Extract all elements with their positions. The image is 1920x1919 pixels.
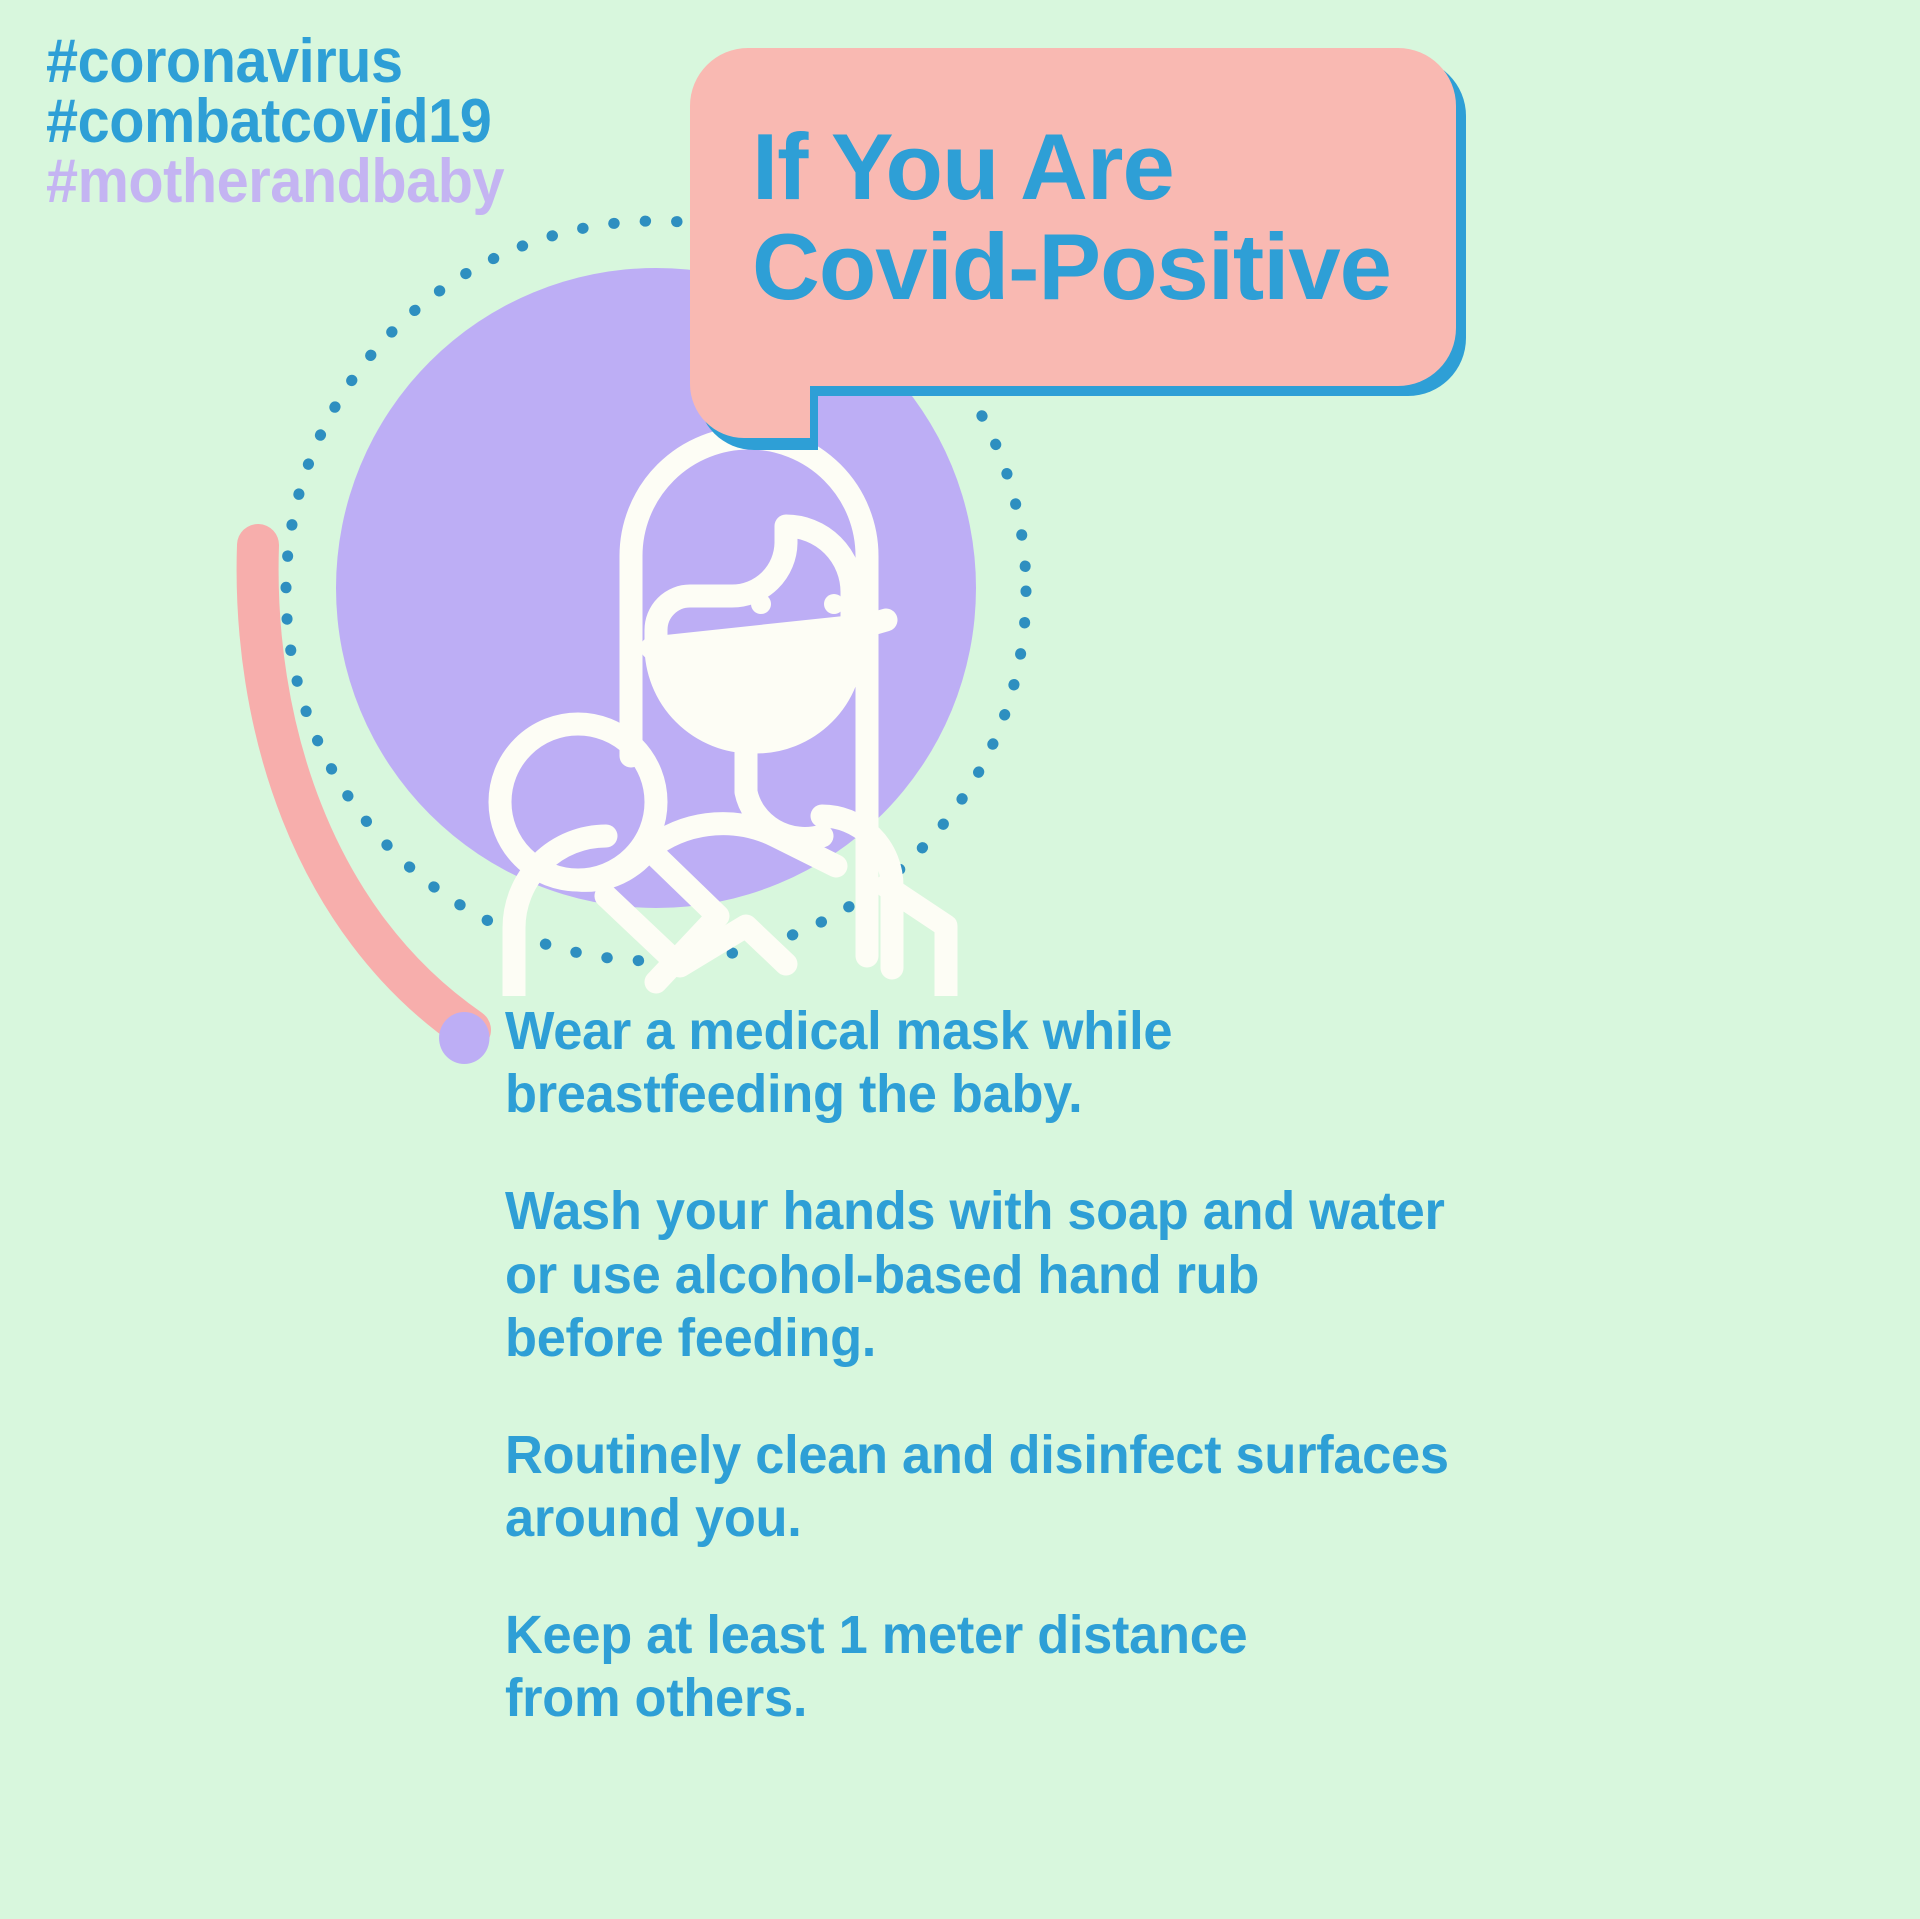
- list-item: Routinely clean and disinfect surfaces a…: [505, 1424, 1795, 1550]
- list-item: Wash your hands with soap and water or u…: [505, 1180, 1795, 1370]
- poster-canvas: #coronavirus #combatcovid19 #motherandba…: [0, 0, 1920, 1919]
- list-item-line: Wear a medical mask while: [505, 1000, 1795, 1063]
- hashtag-coronavirus[interactable]: #coronavirus: [46, 32, 504, 92]
- list-item: Wear a medical mask while breastfeeding …: [505, 1000, 1795, 1126]
- bullet-dot-icon: [439, 1012, 489, 1064]
- hashtag-group: #coronavirus #combatcovid19 #motherandba…: [46, 32, 539, 212]
- title-line-2: Covid-Positive: [752, 217, 1456, 317]
- list-item-line: Wash your hands with soap and water: [505, 1180, 1795, 1243]
- eye-left-icon: [751, 594, 771, 614]
- list-item-line: around you.: [505, 1487, 1795, 1550]
- list-item-line: or use alcohol-based hand rub: [505, 1244, 1795, 1307]
- mask-ear-strap: [858, 620, 886, 628]
- advice-list: Wear a medical mask while breastfeeding …: [505, 1000, 1835, 1785]
- list-item-line: Keep at least 1 meter distance: [505, 1604, 1795, 1667]
- list-item-line: from others.: [505, 1667, 1795, 1730]
- hashtag-combatcovid19[interactable]: #combatcovid19: [46, 92, 504, 152]
- page-title: If You Are Covid-Positive: [690, 48, 1456, 386]
- list-item: Keep at least 1 meter distance from othe…: [505, 1604, 1795, 1730]
- list-item-line: breastfeeding the baby.: [505, 1063, 1795, 1126]
- eye-right-icon: [824, 594, 844, 614]
- list-item-line: before feeding.: [505, 1307, 1795, 1370]
- title-speech-bubble: If You Are Covid-Positive: [690, 48, 1456, 386]
- list-item-line: Routinely clean and disinfect surfaces: [505, 1424, 1795, 1487]
- title-line-1: If You Are: [752, 117, 1456, 217]
